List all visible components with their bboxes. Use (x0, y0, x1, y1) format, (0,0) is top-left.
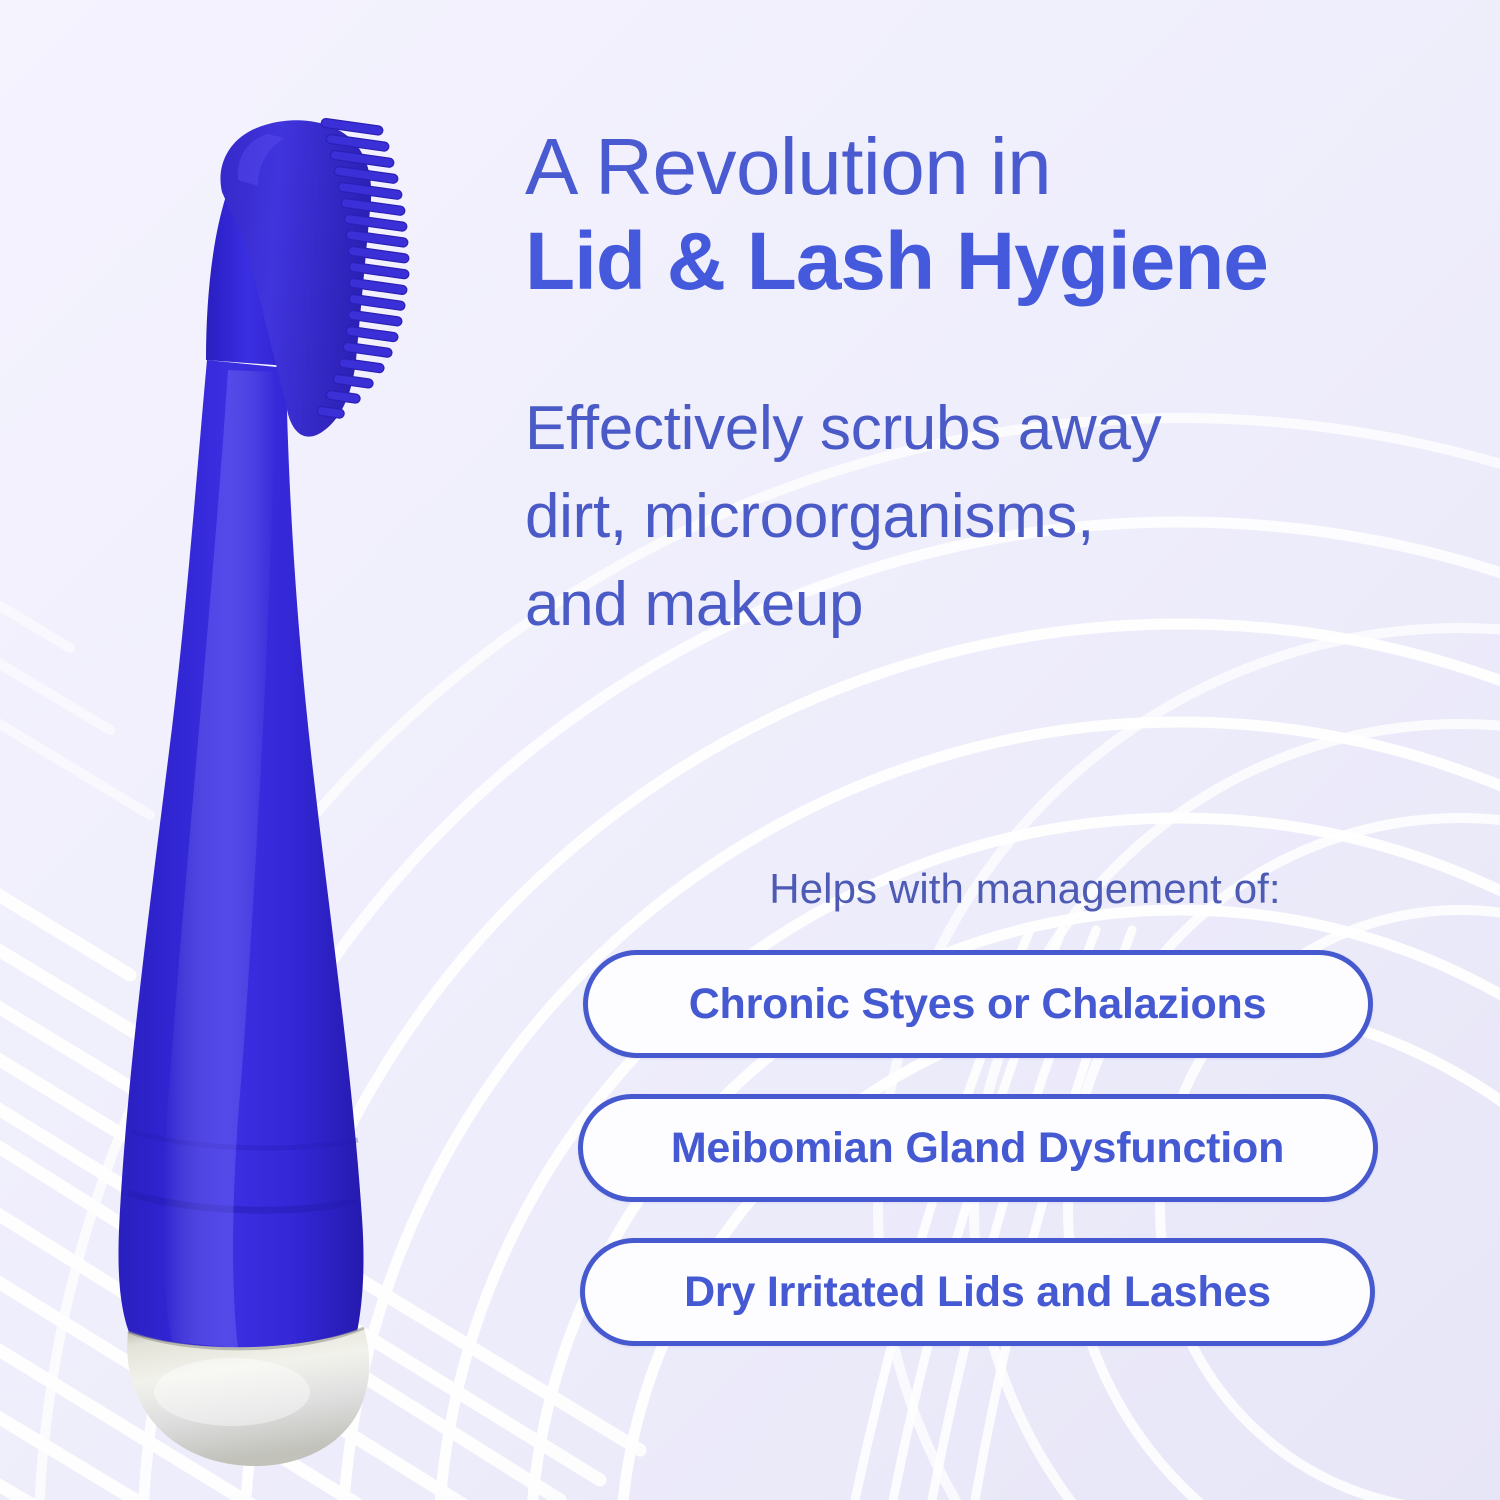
condition-pill-chronic-styes[interactable]: Chronic Styes or Chalazions (583, 950, 1373, 1058)
copy-column: A Revolution in Lid & Lash Hygiene Effec… (525, 0, 1430, 1500)
condition-pill-meibomian-gland-dysfunction[interactable]: Meibomian Gland Dysfunction (578, 1094, 1378, 1202)
base-cap-highlight (154, 1358, 310, 1426)
headline-block: A Revolution in Lid & Lash Hygiene (525, 120, 1430, 311)
product-image (0, 60, 520, 1480)
subheadline-block: Effectively scrubs away dirt, microorgan… (525, 385, 1430, 649)
helps-with-management-label: Helps with management of: (645, 865, 1405, 913)
subheadline-line-2: dirt, microorganisms, (525, 473, 1430, 561)
headline-line-2-bold: Lid & Lash Hygiene (525, 214, 1430, 311)
subheadline-line-1: Effectively scrubs away (525, 385, 1430, 473)
product-marketing-poster: A Revolution in Lid & Lash Hygiene Effec… (0, 0, 1500, 1500)
headline-line-1: A Revolution in (525, 120, 1430, 214)
condition-pill-dry-irritated-lids-and-lashes[interactable]: Dry Irritated Lids and Lashes (580, 1238, 1375, 1346)
subheadline-line-3: and makeup (525, 561, 1430, 649)
condition-pill-list: Chronic Styes or Chalazions Meibomian Gl… (525, 950, 1430, 1382)
lid-lash-brush-device (0, 60, 520, 1480)
